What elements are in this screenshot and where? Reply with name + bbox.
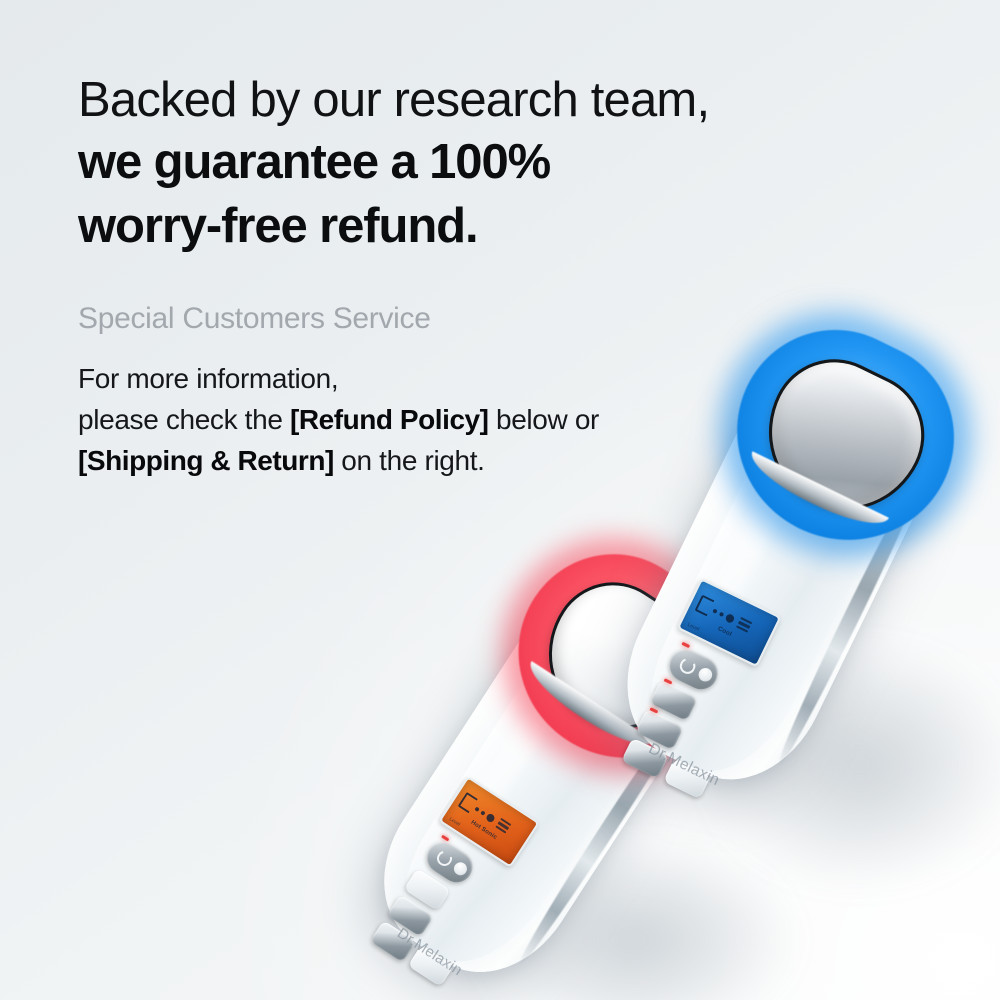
lcd-dot-icon [725,612,736,623]
headline: Backed by our research team, we guarante… [78,72,908,259]
mode-led-icon [663,678,672,684]
lcd-dot-icon [485,812,496,823]
mode-led-icon [649,707,658,713]
lcd-level-bars-icon [495,818,511,834]
headline-line-1: Backed by our research team, [78,72,908,130]
lcd-dot-icon [713,608,719,614]
lcd-dot-icon [719,611,725,617]
lcd-dot-icon [480,810,486,816]
lcd-level-label-blue: Level [686,622,700,633]
lcd-dot-icon [475,806,481,812]
lcd-bracket-icon [695,595,715,617]
shipping-return-link[interactable]: [Shipping & Return] [78,445,334,476]
body-line-2-pre: please check the [78,404,290,435]
headline-line-3: worry-free refund. [78,194,908,259]
refund-policy-link[interactable]: [Refund Policy] [290,404,489,435]
lcd-level-label-red: Level [448,816,461,828]
promo-banner: Backed by our research team, we guarante… [0,0,1000,1000]
lcd-level-bars-icon [736,617,752,633]
headline-line-2: we guarantee a 100% [78,130,908,195]
body-line-3-post: on the right. [334,445,485,476]
body-line-2-post: below or [489,404,599,435]
